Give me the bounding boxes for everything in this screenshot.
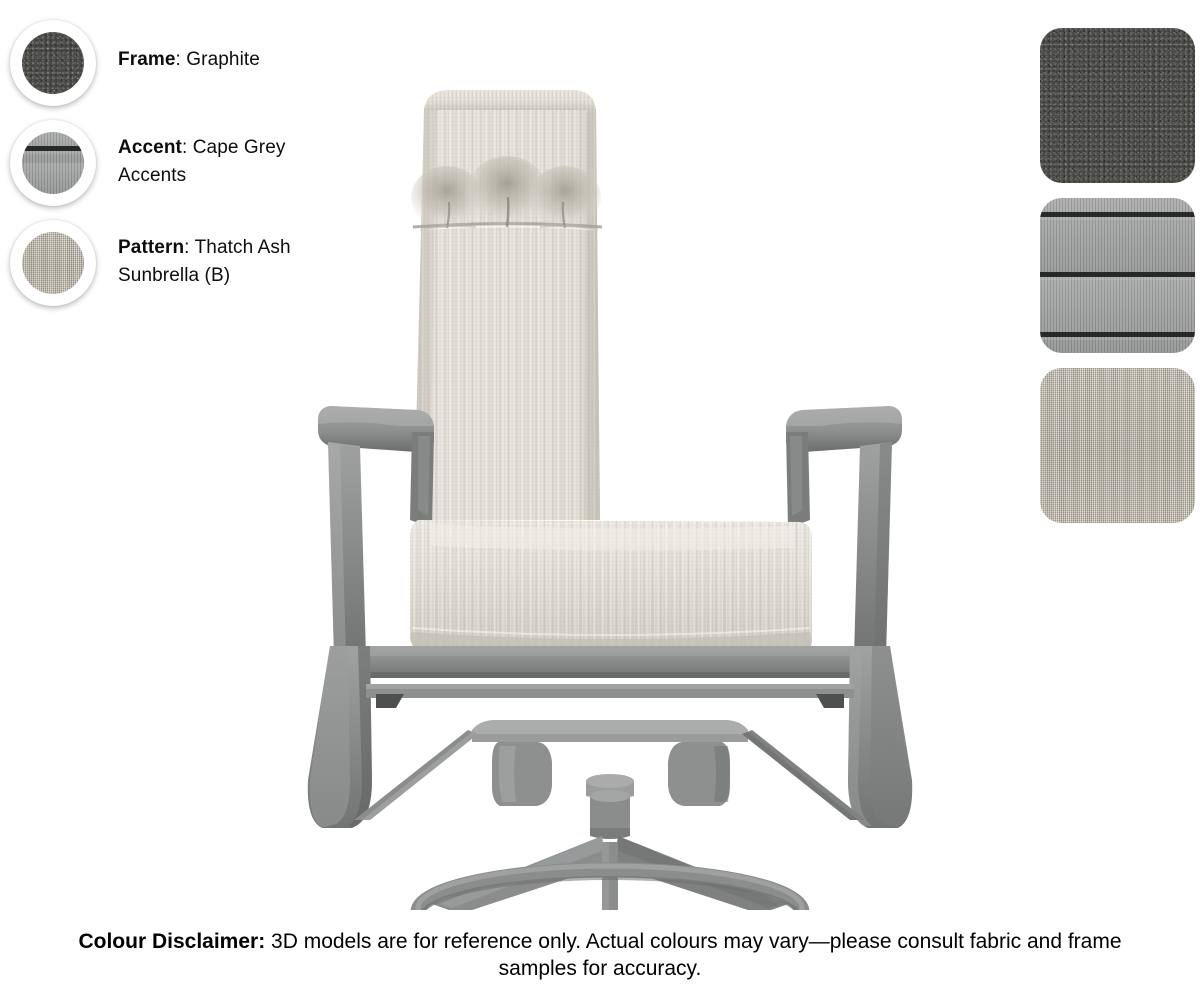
legend-item-frame-value: : Graphite: [176, 49, 260, 70]
swivel-base: [418, 836, 802, 910]
legend-item-frame-key: Frame: [118, 49, 176, 70]
pattern-swatch-chip[interactable]: [10, 220, 96, 306]
cape-grey-swatch: [22, 132, 84, 194]
legend-item-frame[interactable]: Frame: Graphite: [0, 20, 340, 106]
chair-back-cushion: [414, 90, 600, 520]
graphite-swatch: [22, 32, 84, 94]
legend-item-accent[interactable]: Accent: Cape Grey Accents: [0, 120, 340, 206]
graphite-tile[interactable]: [1040, 28, 1195, 183]
legend-item-pattern-label: Pattern: Thatch Ash Sunbrella (B): [118, 220, 323, 290]
thatch-ash-swatch: [22, 232, 84, 294]
legend-item-pattern-key: Pattern: [118, 237, 184, 258]
frame-swatch-chip[interactable]: [10, 20, 96, 106]
colour-disclaimer: Colour Disclaimer: 3D models are for ref…: [65, 928, 1135, 982]
colour-disclaimer-title: Colour Disclaimer:: [78, 930, 265, 953]
product-3d-render[interactable]: [300, 80, 920, 910]
product-configurator-canvas: Frame: Graphite Accent: Cape Grey Accent…: [0, 0, 1200, 1000]
legend-item-frame-label: Frame: Graphite: [118, 20, 260, 74]
accent-swatch-chip[interactable]: [10, 120, 96, 206]
swivel-rocker-chair-illustration: [300, 80, 920, 910]
legend-item-accent-label: Accent: Cape Grey Accents: [118, 120, 323, 190]
selection-legend: Frame: Graphite Accent: Cape Grey Accent…: [0, 20, 340, 320]
chair-seat-cushion: [410, 520, 812, 658]
swivel-rocker-mechanism: [354, 720, 866, 839]
cape-grey-tile[interactable]: [1040, 198, 1195, 353]
headrest-seam-and-tufts: [411, 156, 602, 230]
legend-item-pattern[interactable]: Pattern: Thatch Ash Sunbrella (B): [0, 220, 340, 306]
material-tile-strip: [1040, 28, 1200, 538]
legend-item-accent-key: Accent: [118, 137, 182, 158]
seat-frame-rail: [362, 646, 870, 678]
colour-disclaimer-body: 3D models are for reference only. Actual…: [265, 930, 1121, 980]
thatch-ash-tile[interactable]: [1040, 368, 1195, 523]
